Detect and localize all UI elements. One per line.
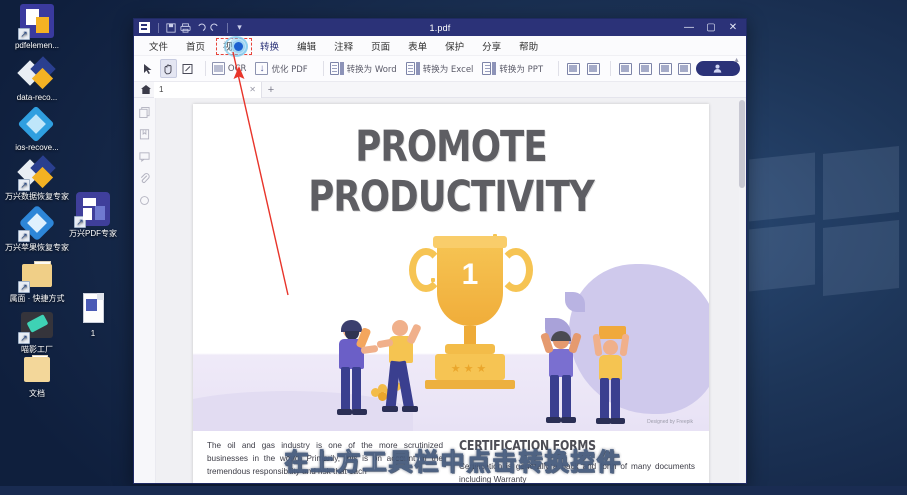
click-pointer-indicator [232,40,245,53]
collapse-ribbon-icon[interactable]: ▲ [733,57,740,64]
maximize-button[interactable]: ▢ [700,19,722,36]
optimize-pdf-icon: ↓ [255,62,268,75]
person-illustration-4 [591,338,637,428]
menu-protect[interactable]: 保护 [436,37,473,55]
convert-to-ppt-button[interactable]: 转换为 PPT [482,62,543,75]
bookmarks-panel-icon[interactable] [138,128,151,141]
shortcut-badge: ↗ [18,28,30,40]
person-illustration-2 [380,318,432,422]
person-illustration-1 [333,322,381,422]
ribbon-toolbar: OCR ↓ 优化 PDF 转换为 Word 转换为 Excel 转换为 PPT [134,56,746,82]
convert-to-epub-icon[interactable] [656,59,674,78]
redo-icon[interactable] [208,20,223,35]
pdf-document-title: PROMOTE PRODUCTIVITY [214,122,689,222]
edit-tool-button[interactable] [179,59,197,78]
desktop-icon-label: ios-recove... [4,143,70,153]
convert-to-word-icon [330,62,344,75]
pdf-file-icon [76,292,110,326]
shortcut-badge: ↗ [18,332,30,344]
customize-chevron-icon[interactable]: ▾ [232,20,247,35]
desktop-icon-label: data-reco... [4,93,70,103]
comments-panel-icon[interactable] [138,150,151,163]
menu-share[interactable]: 分享 [473,37,510,55]
mouse-cursor-icon [232,66,246,84]
convert-to-excel-icon [406,62,420,75]
workarea: PROMOTE PRODUCTIVITY [134,98,746,484]
convert-to-text-icon[interactable] [585,59,603,78]
home-icon[interactable] [138,83,154,97]
page-viewer[interactable]: PROMOTE PRODUCTIVITY [156,98,746,484]
ios-recovery-icon [20,106,54,140]
desktop-icon-wondershare-pdf[interactable]: ↗ 万兴PDF专家 [60,192,126,239]
undo-icon[interactable] [193,20,208,35]
wondershare-data-recovery-icon: ↗ [20,155,54,189]
shortcut-badge: ↗ [18,179,30,191]
desktop-icon-pdf-file-1[interactable]: 1 [60,292,126,339]
pdf-hero-illustration: 1 ★★★ [193,226,709,431]
new-tab-button[interactable]: + [262,84,280,96]
person-illustration-3 [541,331,587,426]
scrollbar-thumb[interactable] [739,100,745,188]
desktop: ↗ pdfelemen... data-reco... ios-recove..… [0,0,907,495]
pdf-application-window: ▾ 1.pdf — ▢ ✕ 文件 首页 视图 转换 编辑 注释 页面 表单 保护… [133,18,747,484]
select-tool-button[interactable] [140,59,158,78]
desktop-icon-label: 万兴PDF专家 [60,229,126,239]
account-user-icon [712,63,723,74]
convert-to-image-icon[interactable] [565,59,583,78]
desktop-icon-label: 文档 [4,389,70,399]
document-tab-label: 1 [159,85,163,94]
documents-folder-icon [20,352,54,386]
shortcut-badge: ↗ [18,281,30,293]
thumbnails-panel-icon[interactable] [138,106,151,119]
trophy-stars: ★★★ [443,362,497,375]
menu-form[interactable]: 表单 [399,37,436,55]
menu-edit[interactable]: 编辑 [288,37,325,55]
desktop-icon-ios-recovery[interactable]: ios-recove... [4,106,70,153]
menu-page[interactable]: 页面 [362,37,399,55]
convert-to-html-icon[interactable] [637,59,655,78]
convert-to-ppt-icon [482,62,496,75]
pdf-page: PROMOTE PRODUCTIVITY [193,104,709,484]
desktop-icon-label: 万兴苹果恢复专家 [4,243,70,253]
windows-logo-watermark [749,150,899,300]
stamps-panel-icon[interactable] [138,194,151,207]
desktop-icon-data-recovery[interactable]: data-reco... [4,56,70,103]
menu-file[interactable]: 文件 [140,37,177,55]
hand-tool-button[interactable] [160,59,178,78]
convert-to-pdfa-icon[interactable] [676,59,694,78]
close-icon[interactable]: ✕ [249,85,256,94]
shortcut-badge: ↗ [74,216,86,228]
convert-to-excel-button[interactable]: 转换为 Excel [406,62,474,75]
folder-shortcut-icon: ↗ [20,257,54,291]
desktop-icon-label: 1 [60,329,126,339]
save-icon[interactable] [163,20,178,35]
wondershare-pdf-app-icon: ↗ [76,192,110,226]
side-panel-rail [134,98,156,484]
shortcut-badge: ↗ [18,230,30,242]
taskbar[interactable] [0,486,907,495]
trophy-number: 1 [437,258,503,292]
illustration-credit: Designed by Freepik [647,419,693,425]
app-logo-icon [138,21,151,34]
page-scrollbar[interactable] [739,100,745,483]
ocr-icon [212,62,225,75]
print-icon[interactable] [178,20,193,35]
tutorial-subtitle: 在上方工具栏中点击转换控件 [0,442,907,477]
menu-convert[interactable]: 转换 [251,37,288,55]
menu-help[interactable]: 帮助 [510,37,547,55]
pdfelement-app-icon: ↗ [20,4,54,38]
window-titlebar: ▾ 1.pdf — ▢ ✕ [134,19,746,36]
data-recovery-icon [20,56,54,90]
document-tabbar: 1 ✕ + [134,82,746,98]
filmora-icon: ↗ [20,308,54,342]
minimize-button[interactable]: — [678,19,700,36]
close-button[interactable]: ✕ [722,19,744,36]
convert-to-rtf-icon[interactable] [617,59,635,78]
menu-comment[interactable]: 注释 [325,37,362,55]
desktop-icon-pdfelement[interactable]: ↗ pdfelemen... [4,4,70,51]
convert-to-word-button[interactable]: 转换为 Word [330,62,397,75]
desktop-icon-label: pdfelemen... [4,41,70,51]
menu-home[interactable]: 首页 [177,37,214,55]
attachments-panel-icon[interactable] [138,172,151,185]
desktop-icon-documents[interactable]: 文档 [4,352,70,399]
wondershare-ios-recovery-icon: ↗ [20,206,54,240]
optimize-pdf-button[interactable]: ↓ 优化 PDF [255,62,307,75]
